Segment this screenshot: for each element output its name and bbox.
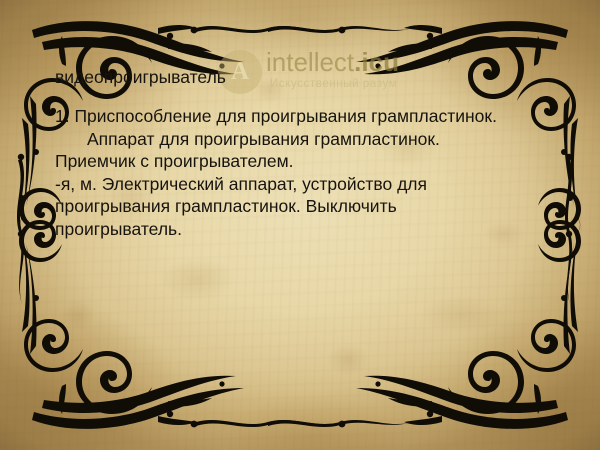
definition-line: -я, м. Электрический аппарат, устройство… [55, 173, 525, 241]
definition-line: 1. Приспособление для проигрывания грамп… [55, 105, 525, 128]
definition-line: Аппарат для проигрывания грампластинок. … [55, 128, 525, 173]
entry-headword: видеопроигрыватель [55, 66, 525, 88]
dictionary-entry: видеопроигрыватель 1. Приспособление для… [55, 66, 525, 240]
parchment-page: A intellect.icu Искусственный разум виде… [0, 0, 600, 450]
entry-definition-body: 1. Приспособление для проигрывания грамп… [55, 105, 525, 240]
